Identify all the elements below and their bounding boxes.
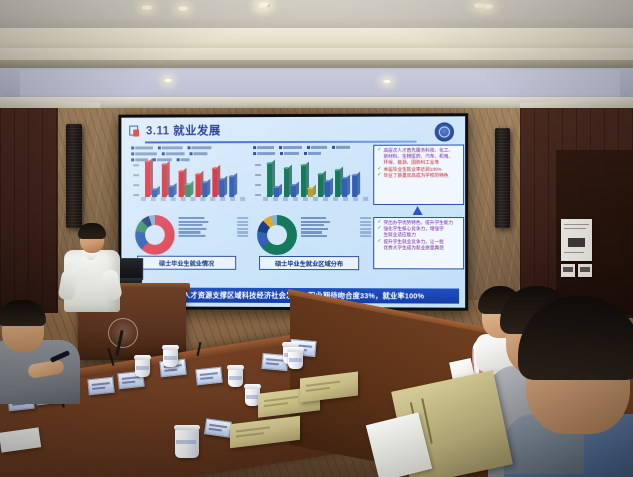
slide-header: 3.11 就业发展 [129,121,457,144]
panel-line: 突出办学优势特色，提升学生能力 [383,220,453,225]
check-icon: ✓ [377,148,381,153]
x-axis-labels [141,197,246,201]
tea-cup [135,358,150,377]
ceiling-light-icon [257,1,271,8]
soffit-light-icon [163,78,173,83]
donut-legend [301,217,371,239]
donut-ring [257,215,297,255]
title-underline [145,141,417,143]
audience-member-foreground [520,318,633,477]
caption-text: 硕士毕业生就业情况 [159,258,214,267]
panel-line: 强化学生核心竞争力，增强学 [383,226,443,231]
name-card [195,367,223,386]
slide-bullet-icon [129,126,140,138]
conference-room-photo: 3.11 就业发展 [0,0,633,477]
name-card [204,418,232,437]
tea-cup [228,368,243,387]
tea-cup [288,350,303,369]
y-axis [133,162,140,201]
panel-line: 新材料、生物医药、汽车、机电、 [383,154,453,159]
up-arrow-icon [413,206,423,215]
audience-member-left [0,306,84,402]
right-donut-chart: 硕士毕业生就业区域分布 [253,213,371,269]
wood-panel-left [0,108,58,313]
chart-plot-area [133,162,248,201]
left-bar-chart [131,145,248,207]
tea-cup [175,428,199,458]
y-axis [255,162,262,201]
chart-caption: 硕士毕业生就业情况 [137,256,236,270]
chart-bars [141,162,246,197]
right-bar-chart [253,145,371,207]
text-panel-top: ✓高层次人才首先服务科技、化工、 ✓新材料、生物医药、汽车、机电、 ✓环保、能源… [373,145,464,205]
chart-legend [253,145,371,161]
check-icon: ✓ [377,239,381,244]
chart-bars [263,162,369,197]
caption-text: 硕士毕业生就业区域分布 [275,258,343,267]
tea-cup [163,348,178,367]
panel-line: 提升学生就业竞争力，让一批 [383,239,443,244]
slide-title-text: 就业发展 [173,125,221,137]
check-icon: ✓ [377,173,381,178]
check-icon: ✓ [377,166,381,171]
x-axis-labels [263,197,369,201]
panel-line: 毕业了质量双高成为学校的特色 [383,173,448,178]
chart-legend [131,145,248,161]
ceiling-light-icon [176,5,190,12]
name-card [87,377,115,396]
left-donut-chart: 硕士毕业生就业情况 [131,213,248,269]
slide-title-number: 3.11 [146,125,169,137]
panel-line: 环保、能源、国防科工业等 [383,160,439,165]
university-seal-icon [435,122,454,141]
panel-line: 本届毕业生就业率达到100% [383,166,441,171]
soffit-light-icon [382,79,392,84]
wall-speaker-right [495,128,510,228]
presentation-screen[interactable]: 3.11 就业发展 [118,113,468,310]
ceiling [0,0,633,30]
text-panel-bottom: ✓突出办学优势特色，提升学生能力 ✓强化学生核心竞争力，增强学 ✓生就业适应能力… [373,217,464,269]
panel-line: 优秀大学生成为就业质量典范 [383,245,443,250]
ceiling-band [0,28,633,50]
wall-speaker-left [66,124,82,228]
light-switch-right[interactable] [578,264,592,277]
panel-line: 高层次人才首先服务科技、化工、 [383,148,453,153]
panel-line: 生就业适应能力 [383,232,415,237]
slide-title: 3.11 就业发展 [146,122,221,138]
chart-plot-area [255,162,371,201]
presenter [58,226,120,310]
ceiling-soffit-inner [20,70,620,100]
ceiling-light-icon [140,4,154,11]
ceiling-light-icon [481,3,495,10]
glasses-icon [82,237,102,243]
donut-legend [179,217,248,239]
donut-ring [135,215,175,255]
chart-caption: 硕士毕业生就业区域分布 [259,256,359,270]
powerpoint-slide: 3.11 就业发展 [121,116,465,307]
light-switch-left[interactable] [561,264,575,277]
check-icon: ✓ [377,226,381,231]
wall-notice-sign [561,219,592,261]
